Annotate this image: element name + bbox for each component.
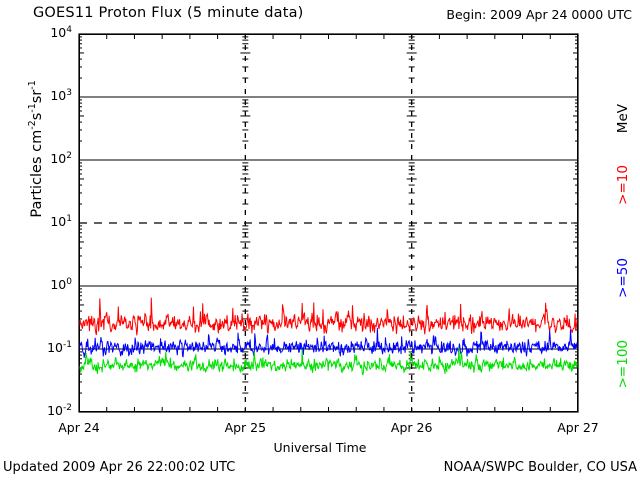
chart-title: GOES11 Proton Flux (5 minute data) (33, 5, 304, 21)
agency-label: NOAA/SWPC Boulder, CO USA (444, 460, 637, 475)
legend-ge10: >=10 (615, 165, 637, 205)
begin-time-label: Begin: 2009 Apr 24 0000 UTC (446, 7, 632, 22)
plot-area (79, 34, 578, 412)
x-tick-label: Apr 24 (39, 420, 119, 435)
x-tick-label: Apr 25 (205, 420, 285, 435)
updated-timestamp: Updated 2009 Apr 26 22:00:02 UTC (3, 460, 235, 475)
y-tick-label: 100 (0, 277, 72, 292)
legend-ge100: >=100 (615, 340, 637, 388)
legend-unit-mev: MeV (615, 104, 637, 133)
x-tick-label: Apr 26 (372, 420, 452, 435)
y-tick-label: 10-2 (0, 403, 72, 418)
x-axis-title: Universal Time (0, 440, 640, 455)
y-axis-title: Particles cm-2s-1sr-1 (27, 29, 45, 269)
y-tick-label: 101 (0, 214, 72, 229)
y-tick-label: 102 (0, 151, 72, 166)
y-tick-label: 103 (0, 88, 72, 103)
y-tick-label: 10-1 (0, 340, 72, 355)
x-tick-label: Apr 27 (538, 420, 618, 435)
legend-ge50: >=50 (615, 258, 637, 298)
y-tick-label: 104 (0, 25, 72, 40)
